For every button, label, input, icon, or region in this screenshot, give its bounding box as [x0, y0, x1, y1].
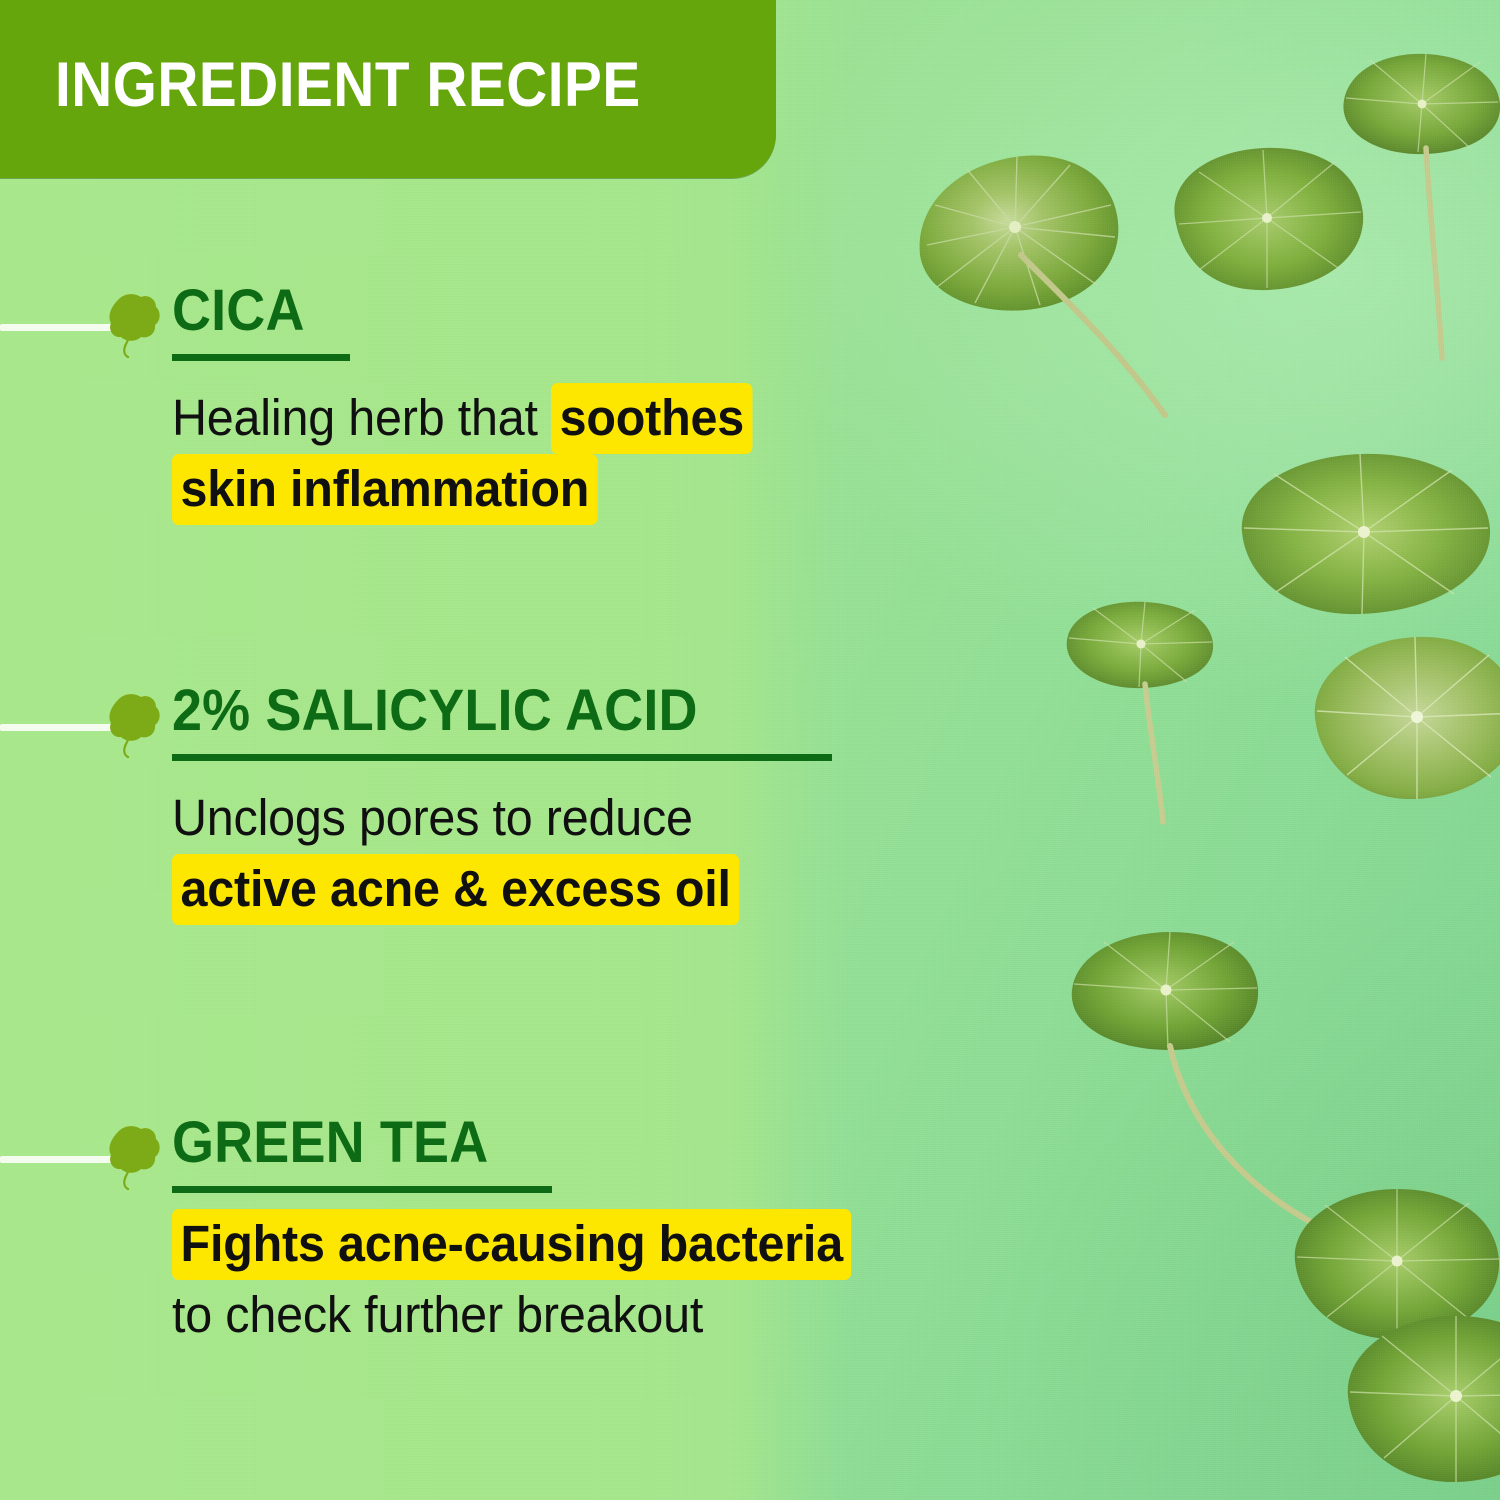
ingredient-block-cica: CICA Healing herb that soothes skin infl…	[0, 286, 1060, 370]
ingredient-heading-row: GREEN TEA	[0, 1118, 1060, 1202]
ingredient-recipe-poster: INGREDIENT RECIPE CICA Healing herb that…	[0, 0, 1500, 1500]
connector-line	[0, 1156, 112, 1163]
desc-plain-text: to check further breakout	[172, 1286, 703, 1343]
heading-underline	[172, 1186, 552, 1193]
ingredient-description: Fights acne-causing bacteria to check fu…	[172, 1208, 852, 1351]
ingredient-heading-row: CICA	[0, 286, 1060, 370]
desc-highlight-text: soothes	[551, 383, 753, 454]
ingredient-name: 2% SALICYLIC ACID	[172, 682, 698, 740]
ingredient-name: CICA	[172, 282, 305, 340]
desc-plain-text: Unclogs pores to reduce	[172, 789, 693, 846]
ingredient-description: Healing herb that soothes skin inflammat…	[172, 382, 753, 525]
page-title: INGREDIENT RECIPE	[55, 54, 641, 117]
ingredient-heading-row: 2% SALICYLIC ACID	[0, 686, 1060, 770]
ingredient-block-salicylic-acid: 2% SALICYLIC ACID Unclogs pores to reduc…	[0, 686, 1060, 770]
cica-leaf-icon	[108, 292, 164, 362]
desc-highlight-text: skin inflammation	[172, 454, 598, 525]
ingredient-block-green-tea: GREEN TEA Fights acne-causing bacteria t…	[0, 1118, 1060, 1202]
header-banner: INGREDIENT RECIPE	[0, 0, 776, 178]
desc-highlight-text: Fights acne-causing bacteria	[172, 1209, 852, 1280]
cica-leaf-icon	[108, 1124, 164, 1194]
heading-underline	[172, 354, 350, 361]
connector-line	[0, 324, 112, 331]
cica-leaf-icon	[108, 692, 164, 762]
connector-line	[0, 724, 112, 731]
desc-highlight-text: active acne & excess oil	[172, 854, 739, 925]
ingredient-name: GREEN TEA	[172, 1114, 488, 1172]
desc-plain-text: Healing herb that	[172, 389, 551, 446]
ingredient-description: Unclogs pores to reduce active acne & ex…	[172, 782, 739, 925]
heading-underline	[172, 754, 832, 761]
